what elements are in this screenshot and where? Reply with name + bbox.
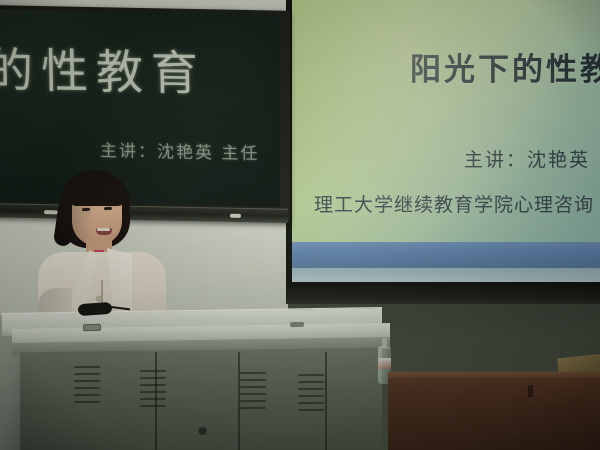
lectern	[0, 300, 410, 450]
chalk-title-text: 的性教育	[0, 31, 207, 103]
eye-right	[104, 207, 112, 211]
chalk-subtitle-text: 主讲：沈艳英 主任	[100, 136, 260, 164]
teeth	[97, 228, 110, 231]
lectern-vent	[74, 366, 100, 412]
slide-accent-band	[292, 242, 600, 268]
slide-organization-line: 理工大学继续教育学院心理咨询	[314, 190, 594, 217]
lectern-vent	[140, 370, 166, 416]
lectern-latch	[83, 324, 101, 331]
eye-left	[82, 208, 90, 212]
slide-title: 阳光下的性教育	[410, 44, 600, 89]
lectern-vent	[298, 374, 324, 420]
lectern-panel-divider	[325, 352, 327, 450]
lecture-photo-scene: 阳光下的性教育 主讲：沈艳英 理工大学继续教育学院心理咨询 的性教育 主讲：沈艳…	[0, 0, 600, 450]
wooden-desk	[388, 378, 600, 450]
lectern-latch	[290, 322, 304, 327]
bottle-label	[378, 358, 391, 369]
projector-glow	[292, 0, 600, 282]
hair-fringe	[68, 180, 126, 206]
desk-gap	[528, 385, 533, 397]
lectern-vent	[240, 372, 266, 418]
projection-screen-surface: 阳光下的性教育 主讲：沈艳英 理工大学继续教育学院心理咨询	[292, 0, 600, 282]
projection-screen-frame: 阳光下的性教育 主讲：沈艳英 理工大学继续教育学院心理咨询	[286, 0, 600, 292]
lectern-lock	[198, 426, 207, 435]
slide-footer-strip	[292, 268, 600, 282]
slide-speaker-line: 主讲：沈艳英	[464, 145, 590, 172]
chalk-piece	[230, 214, 241, 218]
